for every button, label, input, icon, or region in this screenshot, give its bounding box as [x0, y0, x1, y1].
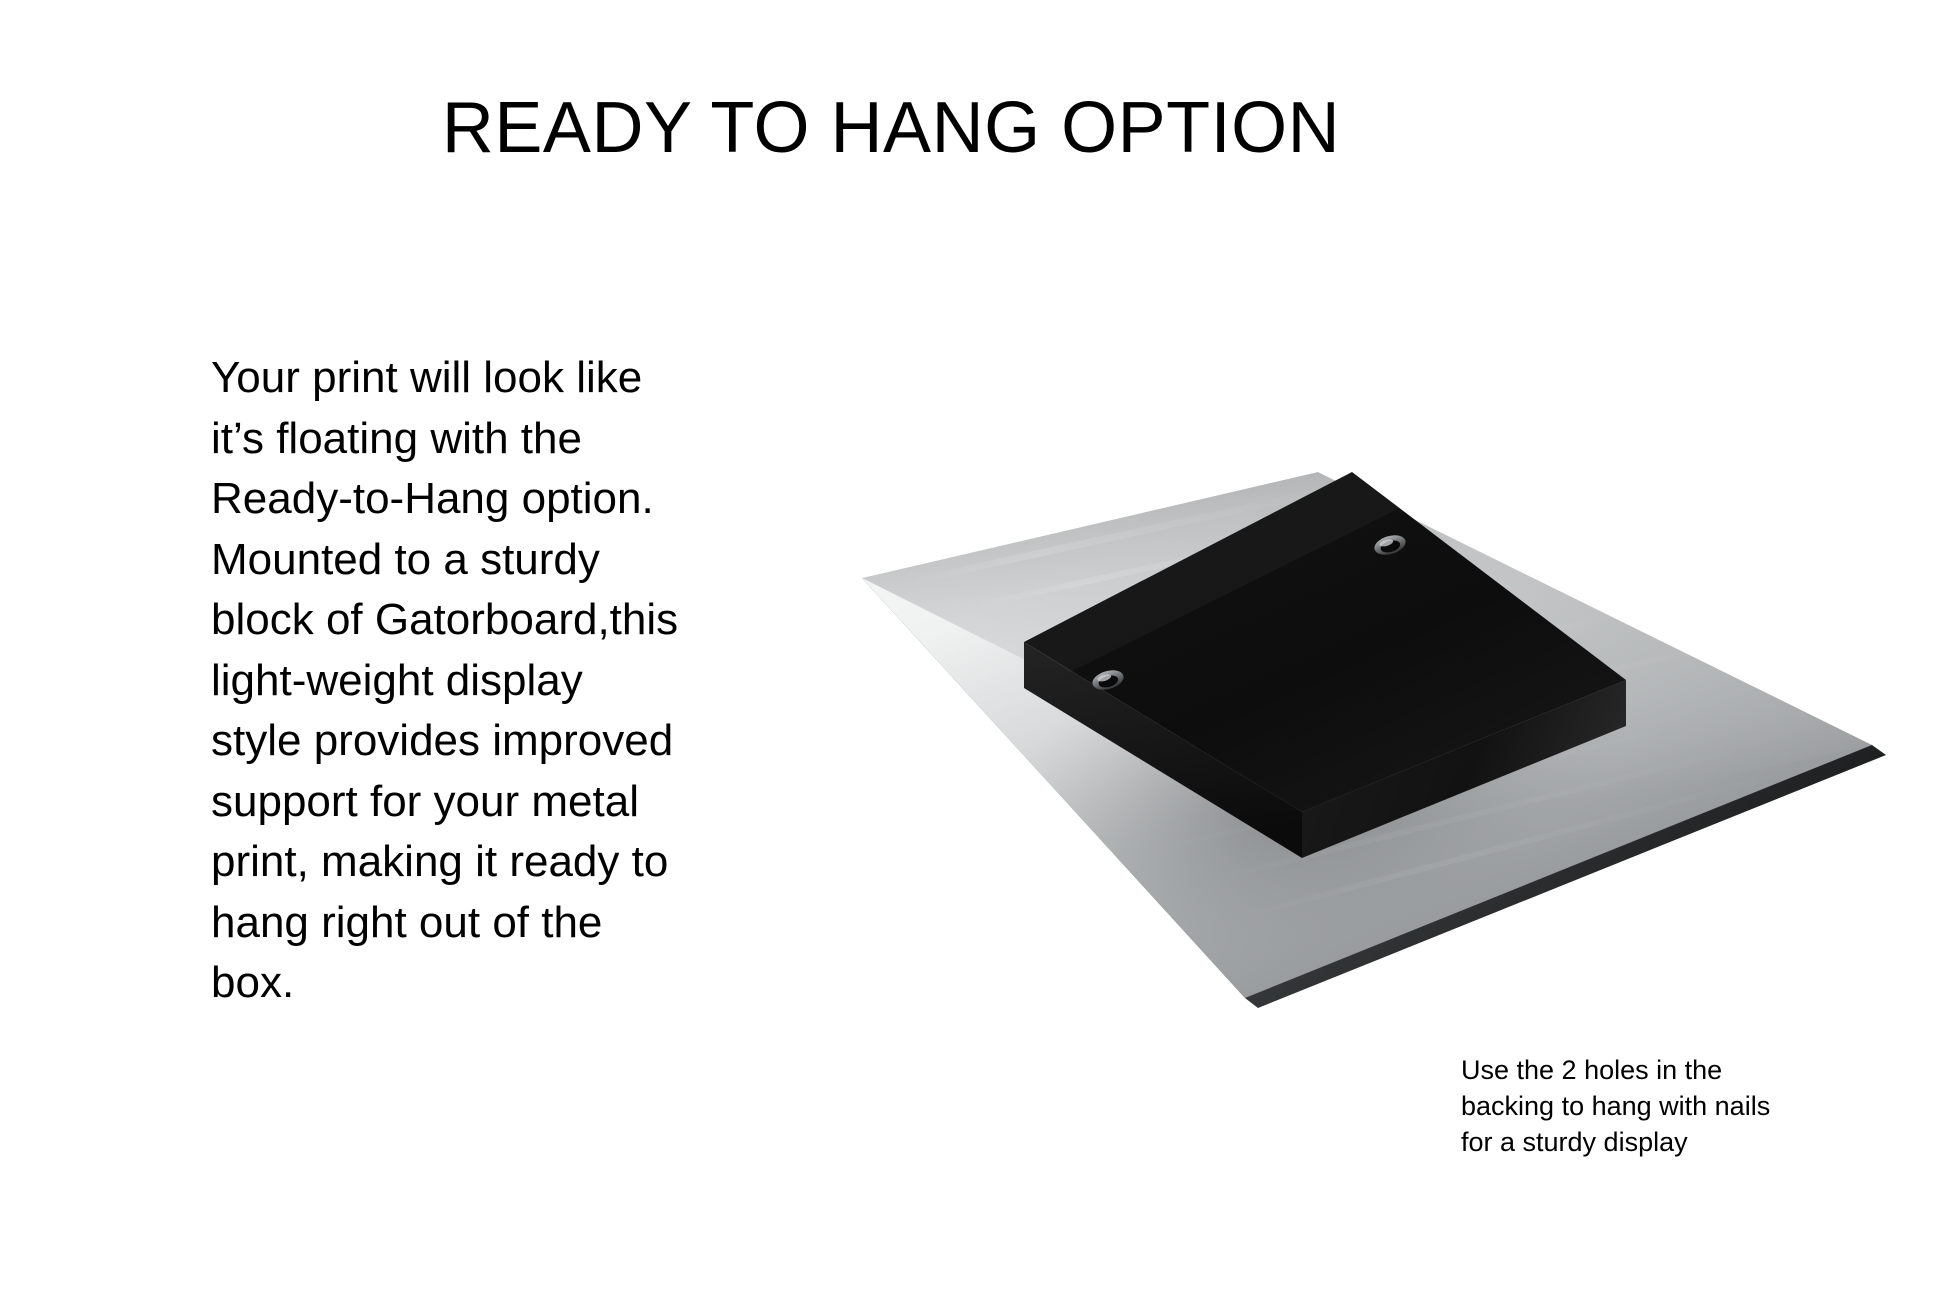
body-paragraph: Your print will look like it’s floating … — [211, 348, 771, 1014]
page-title: READY TO HANG OPTION — [0, 92, 1864, 164]
image-caption: Use the 2 holes in the backing to hang w… — [1461, 1052, 1861, 1160]
slide-canvas: READY TO HANG OPTION Your print will loo… — [0, 0, 1946, 1297]
product-illustration — [840, 430, 1900, 1030]
